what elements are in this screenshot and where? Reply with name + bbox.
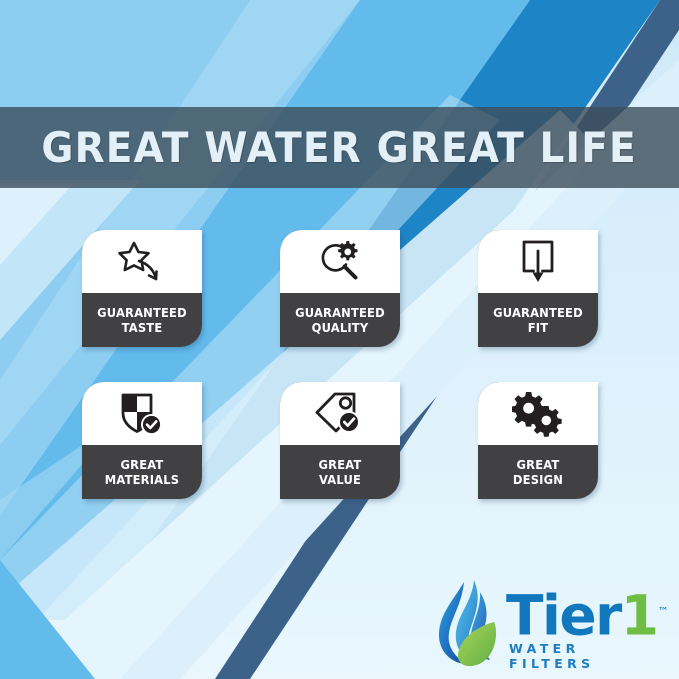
badge-label: GUARANTEED QUALITY: [285, 293, 395, 347]
badge-label-line2: FIT: [528, 320, 549, 335]
badge-label-line1: GREAT: [319, 457, 362, 472]
badge-label-line1: GUARANTEED: [97, 305, 187, 320]
feature-badge-grid: GUARANTEED TASTE GUARANTEED: [82, 230, 602, 499]
two-gears-icon: [478, 382, 598, 445]
promotional-poster: GREAT WATER GREAT LIFE GUARANTEED TASTE: [0, 0, 679, 679]
badge-label: GREAT DESIGN: [483, 445, 593, 499]
brand-logo: Tier1™ WATER FILTERS: [434, 578, 666, 670]
badge-guaranteed-taste: GUARANTEED TASTE: [82, 230, 202, 347]
badge-guaranteed-quality: GUARANTEED QUALITY: [280, 230, 400, 347]
water-drop-leaf-icon: [434, 578, 506, 673]
badge-label: GUARANTEED TASTE: [87, 293, 197, 347]
badge-great-value: GREAT VALUE: [280, 382, 400, 499]
magnifier-gear-icon: [280, 230, 400, 293]
banner-title: GREAT WATER GREAT LIFE: [42, 123, 637, 172]
badge-label-line2: MATERIALS: [105, 472, 179, 487]
badge-great-design: GREAT DESIGN: [478, 382, 598, 499]
badge-label: GREAT MATERIALS: [87, 445, 197, 499]
logo-wordmark: Tier1™ WATER FILTERS: [506, 582, 669, 671]
price-tag-check-icon: [280, 382, 400, 445]
badge-label: GUARANTEED FIT: [483, 293, 593, 347]
badge-label-line2: QUALITY: [312, 320, 369, 335]
headline-banner: GREAT WATER GREAT LIFE: [0, 107, 679, 188]
shooting-star-icon: [82, 230, 202, 293]
badge-label-line2: DESIGN: [513, 472, 563, 487]
logo-brand-one: 1: [621, 583, 658, 647]
shield-check-icon: [82, 382, 202, 445]
box-down-arrow-icon: [478, 230, 598, 293]
badge-label-line1: GUARANTEED: [493, 305, 583, 320]
trademark-symbol: ™: [658, 605, 669, 618]
badge-label: GREAT VALUE: [285, 445, 395, 499]
badge-label-line1: GREAT: [517, 457, 560, 472]
badge-label-line1: GUARANTEED: [295, 305, 385, 320]
badge-label-line2: VALUE: [319, 472, 361, 487]
logo-brand-tier: Tier: [506, 583, 621, 647]
badge-label-line2: TASTE: [122, 320, 163, 335]
badge-label-line1: GREAT: [121, 457, 164, 472]
badge-guaranteed-fit: GUARANTEED FIT: [478, 230, 598, 347]
logo-brand-name: Tier1™: [506, 582, 669, 645]
badge-great-materials: GREAT MATERIALS: [82, 382, 202, 499]
